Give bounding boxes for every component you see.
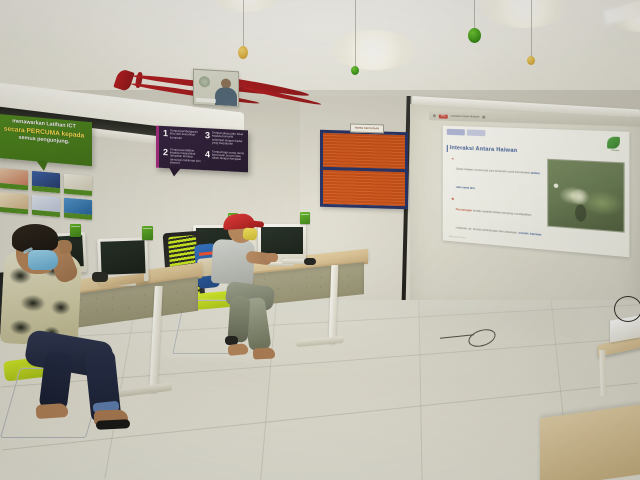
purple-poster-item: 1 Tempat pembelajaran ilmu dan kemahiran… [163,129,202,149]
info-card-caption [32,185,60,193]
projector-screen: REC Interaksi Antara Hidupan Sekolah Int… [410,104,640,326]
browser-dot-icon [433,114,436,117]
purple-poster-item: 2 Tempat pendidikan kepada masyarakat te… [163,147,202,167]
item-text: Tempat bagi orang ramai berurusan secara… [212,150,244,162]
participant-logo-icon [199,76,210,88]
photo-speck [554,183,558,188]
purple-poster-items: 1 Tempat pembelajaran ilmu dan kemahiran… [163,129,244,169]
hanging-ball-yellow [527,56,535,65]
item-number: 3 [205,131,210,140]
info-card [0,192,28,214]
decoration-string [243,0,244,48]
slide-logo-text: Sekolah [607,149,623,152]
green-wall-poster: menawarkan Latihan ICT secara PERCUMA ke… [0,114,92,166]
student-hair [12,224,58,252]
poster-tail [36,160,48,171]
info-card [32,195,60,217]
item-number: 1 [163,129,168,138]
participant-body [215,87,237,106]
item-text: Tempat pembelajaran ilmu dan kemahiran k… [170,129,202,141]
bare-foot [253,347,276,359]
info-card [64,198,92,220]
asset-tag-icon [300,212,310,224]
participant-name-bar [196,98,216,103]
face-mask [242,227,257,240]
slide-title-accent [447,145,448,152]
slide-bullet: Setiap haiwan mempunyai cara tersendiri … [452,156,542,198]
classroom-photo: menawarkan Latihan ICT secara PERCUMA ke… [0,0,640,480]
floor-reflection [150,360,270,430]
asset-tag-icon [142,226,153,240]
purple-wall-poster: 1 Tempat pembelajaran ilmu dan kemahiran… [156,126,248,173]
decoration-string [474,0,475,30]
computer-mouse [304,258,316,265]
purple-poster-item: 3 Tempat akses jalur lebar kepada komuni… [205,131,244,151]
green-poster-text: menawarkan Latihan ICT secara PERCUMA ke… [0,117,89,149]
item-text: Tempat akses jalur lebar kepada komuniti… [212,132,244,147]
face-mask [28,250,58,270]
info-card-grid [0,168,92,220]
item-text: Tempat pendidikan kepada masyarakat temp… [170,148,202,167]
info-card [32,171,60,193]
bullet-emphasis: contoh: harimau dengan serigala [456,231,542,249]
presentation-slide: Sekolah Interaksi Antara Haiwan Setiap h… [443,126,630,258]
monitor-screen [261,227,303,254]
item-number: 4 [205,150,210,159]
decoration-string [355,0,356,68]
browser-dot-icon [483,116,486,119]
record-badge: REC [439,114,448,118]
cable-loop-icon [614,296,640,322]
hanging-ball-green [351,66,359,75]
asset-tag-icon [70,224,81,237]
bullet-text: Setiap haiwan mempunyai cara tersendiri … [456,168,531,175]
slide-bullet: Mangsa ialah haiwan yang diburu dan dima… [452,254,542,257]
computer-mouse [92,272,108,282]
decoration-string [531,0,532,58]
item-number: 2 [163,147,168,156]
noticeboard-bottom [320,167,408,209]
info-card-caption [0,183,28,191]
slide-tab-strip [447,129,486,137]
info-card-caption [64,188,92,196]
noticeboard-top [320,130,408,172]
slide-title: Interaksi Antara Haiwan [450,145,518,154]
banner-stripe [113,68,134,92]
leaf-icon [607,136,620,149]
noticeboard-title-label: PAPAN KENYATAAN [350,124,384,134]
slide-photo [547,159,624,233]
floor-reflection [420,310,580,370]
slide-tab [467,129,485,136]
purple-poster-item: 4 Tempat bagi orang ramai berurusan seca… [205,150,244,170]
info-card [64,174,92,196]
student-hand [266,253,278,262]
poster-tail [169,167,181,177]
sandal [96,419,130,430]
bullet-lead: Persaingan [456,207,472,212]
info-card [0,168,28,190]
photo-highlight [568,189,591,206]
keyboard [282,259,304,264]
monitor-screen [100,240,145,275]
photo-shadow [575,204,586,222]
downlight-icon [330,30,416,70]
slide-logo: Sekolah [607,136,623,152]
slide-bullet: Persaingan berlaku apabila haiwan bersai… [452,196,542,257]
slide-bullet-list: Setiap haiwan mempunyai cara tersendiri … [452,156,542,257]
projected-image: REC Interaksi Antara Hidupan Sekolah Int… [429,111,640,263]
browser-tab-title[interactable]: Interaksi Antara Hidupan [451,115,480,119]
hanging-ball-green [468,28,481,43]
video-call-participant [193,69,239,108]
slide-tab [447,129,465,136]
bare-foot [227,343,248,356]
bare-foot [36,403,69,419]
